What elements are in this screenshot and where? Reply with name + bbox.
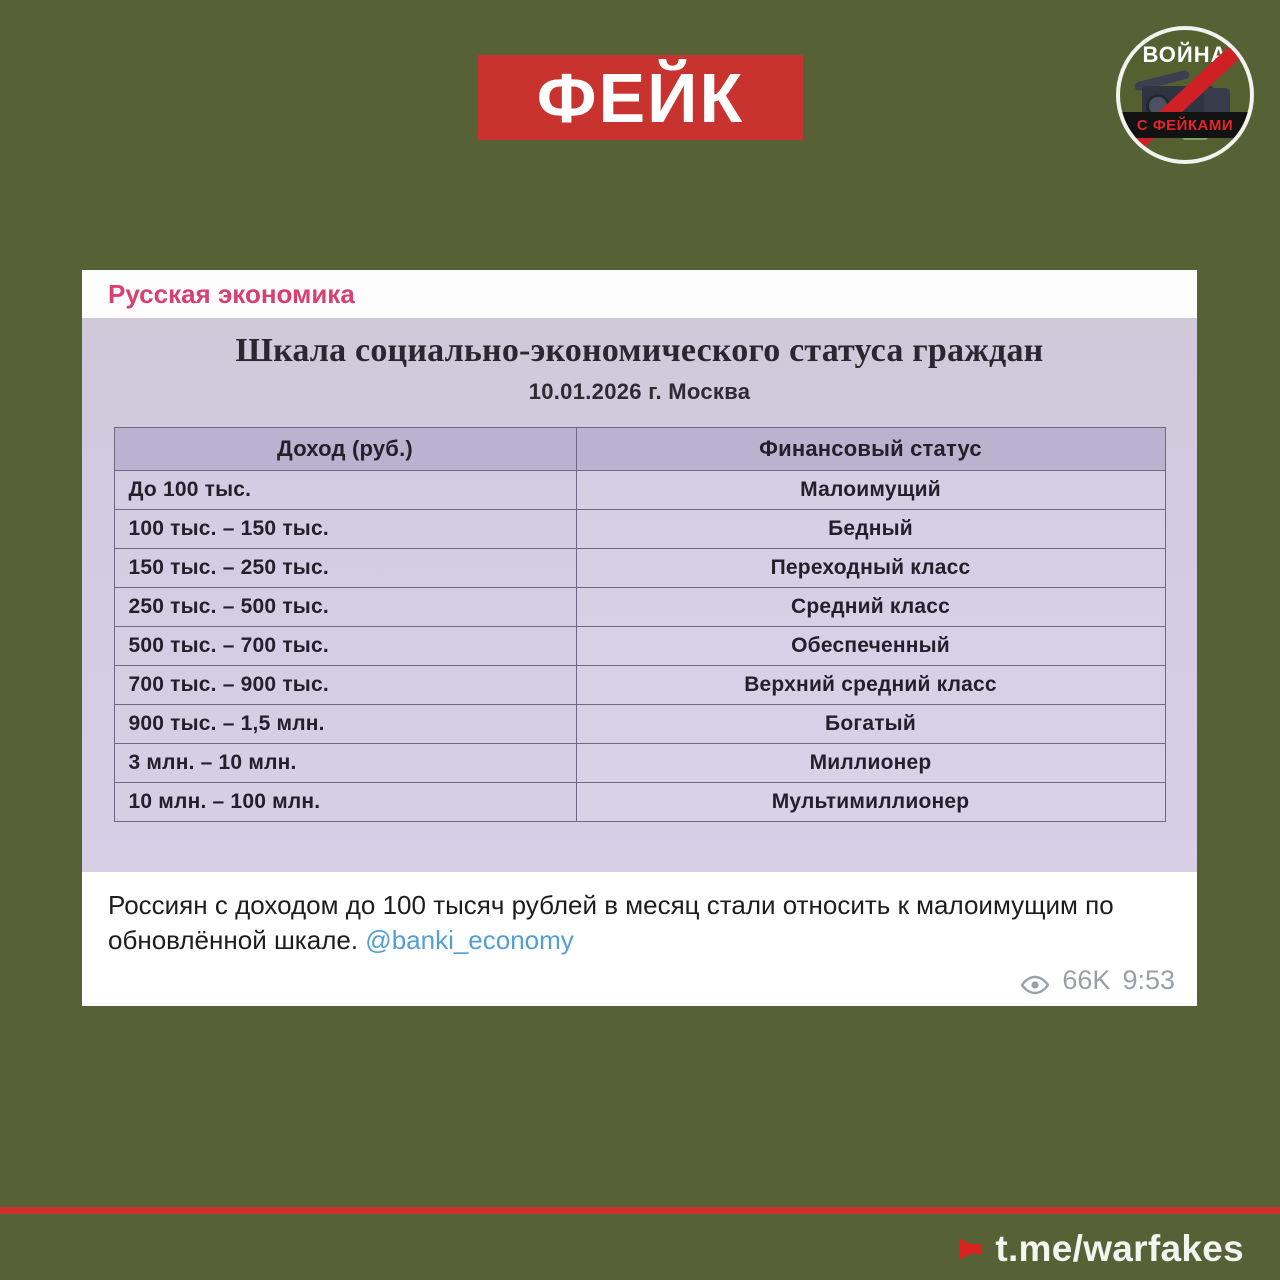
view-count: 66K — [1062, 965, 1110, 996]
document-date-line: 10.01.2026 г. Москва — [100, 379, 1179, 405]
channel-name: Русская экономика — [108, 279, 355, 310]
cell-status: Бедный — [576, 510, 1165, 549]
document-title: Шкала социально-экономического статуса г… — [100, 332, 1179, 369]
cell-income: 500 тыс. – 700 тыс. — [114, 627, 576, 666]
cell-status: Миллионер — [576, 744, 1165, 783]
channel-mention-link[interactable]: @banki_economy — [365, 925, 574, 955]
cell-income: 150 тыс. – 250 тыс. — [114, 549, 576, 588]
cell-income: 700 тыс. – 900 тыс. — [114, 666, 576, 705]
social-economic-status-table: Доход (руб.) Финансовый статус До 100 ты… — [114, 427, 1166, 822]
table-row: 3 млн. – 10 млн. Миллионер — [114, 744, 1165, 783]
logo-bottom-banner: С ФЕЙКАМИ — [1120, 112, 1250, 138]
cell-income: 900 тыс. – 1,5 млн. — [114, 705, 576, 744]
table-row: 900 тыс. – 1,5 млн. Богатый — [114, 705, 1165, 744]
footer-divider — [0, 1207, 1280, 1214]
cell-income: До 100 тыс. — [114, 471, 576, 510]
table-row: 250 тыс. – 500 тыс. Средний класс — [114, 588, 1165, 627]
post-metadata: 66K 9:53 — [1020, 965, 1175, 996]
post-time: 9:53 — [1122, 965, 1175, 996]
column-header-income: Доход (руб.) — [114, 428, 576, 471]
channel-header: Русская экономика — [82, 270, 1197, 318]
caption-text: Россиян с доходом до 100 тысяч рублей в … — [108, 890, 1114, 955]
column-header-status: Финансовый статус — [576, 428, 1165, 471]
poster-canvas: ФЕЙК ВОЙНА С ФЕЙКАМИ Русская экономика Ш… — [0, 0, 1280, 1280]
telegram-post-screenshot: Русская экономика Шкала социально-эконом… — [82, 270, 1197, 1006]
caption-paragraph: Россиян с доходом до 100 тысяч рублей в … — [108, 888, 1171, 958]
cell-income: 3 млн. – 10 млн. — [114, 744, 576, 783]
table-row: 10 млн. – 100 млн. Мультимиллионер — [114, 783, 1165, 822]
footer-channel-link[interactable]: t.me/warfakes — [959, 1228, 1244, 1270]
logo-bottom-label: С ФЕЙКАМИ — [1137, 117, 1233, 134]
cell-status: Богатый — [576, 705, 1165, 744]
cell-income: 100 тыс. – 150 тыс. — [114, 510, 576, 549]
cell-status: Переходный класс — [576, 549, 1165, 588]
post-caption: Россиян с доходом до 100 тысяч рублей в … — [82, 872, 1197, 958]
footer-url-label: t.me/warfakes — [995, 1228, 1244, 1270]
cell-status: Обеспеченный — [576, 627, 1165, 666]
eye-icon — [1020, 971, 1050, 991]
table-row: 700 тыс. – 900 тыс. Верхний средний клас… — [114, 666, 1165, 705]
table-row: 500 тыс. – 700 тыс. Обеспеченный — [114, 627, 1165, 666]
table-row: 150 тыс. – 250 тыс. Переходный класс — [114, 549, 1165, 588]
cell-status: Средний класс — [576, 588, 1165, 627]
cell-income: 250 тыс. – 500 тыс. — [114, 588, 576, 627]
table-row: 100 тыс. – 150 тыс. Бедный — [114, 510, 1165, 549]
arrow-right-icon — [959, 1238, 979, 1260]
cell-status: Малоимущий — [576, 471, 1165, 510]
cell-income: 10 млн. – 100 млн. — [114, 783, 576, 822]
fake-stamp-label: ФЕЙК — [537, 63, 744, 133]
warfakes-logo-badge: ВОЙНА С ФЕЙКАМИ — [1116, 26, 1254, 164]
table-header-row: Доход (руб.) Финансовый статус — [114, 428, 1165, 471]
fake-stamp-banner: ФЕЙК — [478, 55, 803, 140]
cell-status: Мультимиллионер — [576, 783, 1165, 822]
cell-status: Верхний средний класс — [576, 666, 1165, 705]
table-row: До 100 тыс. Малоимущий — [114, 471, 1165, 510]
document-image: Шкала социально-экономического статуса г… — [82, 318, 1197, 872]
